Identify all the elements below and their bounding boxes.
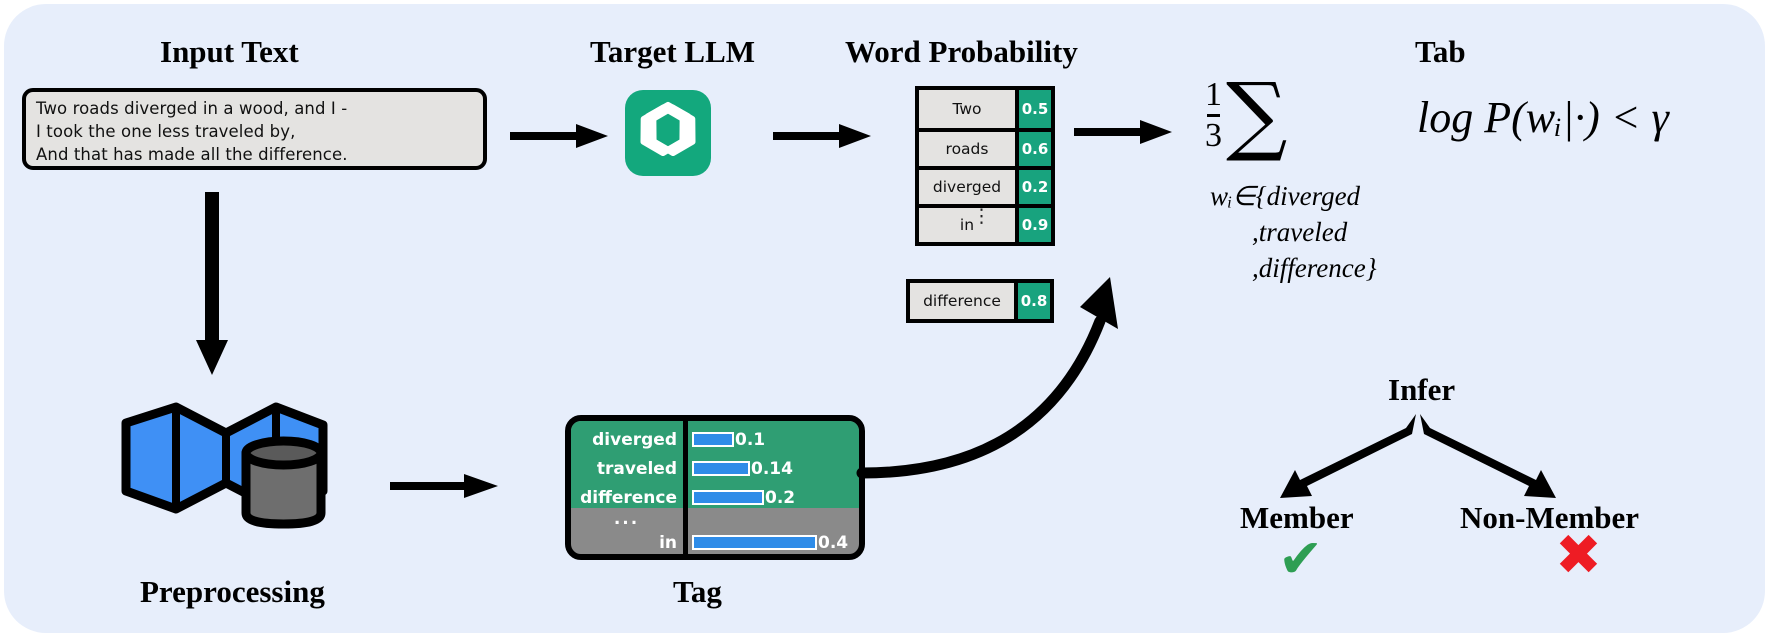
wp-prob-cell: 0.6 [1015,132,1051,166]
arrow-input-to-preprocessing [192,192,232,377]
target-llm-heading: Target LLM [590,34,755,70]
tag-row-bar [692,490,764,505]
tag-row-value: 0.4 [818,533,848,553]
word-probability-heading: Word Probability [845,34,1078,70]
arrow-llm-to-wordprob [773,122,873,150]
wp-word-cell: diverged [919,170,1015,204]
openai-logo-icon [625,90,711,176]
tag-row-label: difference [571,488,682,508]
tag-row-label: in [571,533,682,553]
wp-word-cell: Two [919,90,1015,128]
wp-prob-cell: 0.5 [1015,90,1051,128]
tag-row-value: 0.2 [765,488,795,508]
vertical-ellipsis-icon: ⋮ [972,213,992,220]
member-check-icon: ✔ [1278,532,1323,586]
arrow-down-right-icon [1420,414,1556,498]
non-member-label: Non-Member [1460,500,1639,536]
fraction-numerator: 1 [1205,78,1222,114]
tag-row-value: 0.14 [751,459,793,479]
wp-word-cell: roads [919,132,1015,166]
tag-row-bar-wrap: 0.1 [682,430,765,450]
input-text-box: Two roads diverged in a wood, and I - I … [22,88,487,170]
arrow-preprocessing-to-tag [390,472,500,500]
table-row: Two 0.5 [919,90,1051,128]
wp-prob-cell: 0.2 [1015,170,1051,204]
formula-subscript-set: wᵢ∈{diverged ,traveled ,difference} [1210,178,1377,286]
preprocessing-heading: Preprocessing [140,574,325,610]
tag-box: diverged 0.1 traveled 0.14 difference 0.… [565,415,865,560]
tag-row: difference 0.2 [571,483,859,512]
arrow-down-left-icon [1280,414,1416,498]
wp-word-cell: in [919,208,1015,242]
input-text-line-3: And that has made all the difference. [36,143,475,166]
tag-row-bar-wrap: 0.14 [682,459,793,479]
tag-row-bar [692,535,817,550]
arrow-input-to-llm [510,122,610,150]
tag-row-bar-wrap: 0.4 [682,533,848,553]
tag-row-bar [692,461,750,476]
formula-fraction: 1 3 [1205,78,1222,153]
fraction-denominator: 3 [1205,117,1222,153]
tab-heading: Tab [1415,34,1466,70]
summation-sigma-icon: ∑ [1226,82,1287,149]
tag-row-label: diverged [571,430,682,450]
tag-ellipsis-icon: ... [571,509,682,529]
non-member-cross-icon: ✖ [1555,528,1602,584]
tag-row-bar [692,432,734,447]
input-text-line-2: I took the one less traveled by, [36,120,475,143]
infer-branch-arrows [1238,410,1598,502]
arrow-wordprob-to-formula [1074,118,1174,146]
subscript-line-3: ,difference} [1210,250,1377,286]
tag-heading: Tag [673,574,722,610]
tag-row-label: traveled [571,459,682,479]
wp-prob-cell: 0.9 [1015,208,1051,242]
input-text-line-1: Two roads diverged in a wood, and I - [36,97,475,120]
input-text-heading: Input Text [160,34,299,70]
tab-score-formula: 1 3 ∑ [1205,78,1287,153]
database-cylinder-icon [246,441,321,524]
arrow-tag-to-formula [862,275,1152,490]
tag-axis-line [683,421,688,560]
subscript-line-2: ,traveled [1210,214,1377,250]
target-llm-tile [625,90,711,176]
tag-row-bar-wrap: 0.2 [682,488,795,508]
preprocessing-icon [118,395,328,525]
subscript-line-1: wᵢ∈{diverged [1210,178,1377,214]
tag-row: diverged 0.1 [571,425,859,454]
formula-right-side: log P(wᵢ|·) < γ [1417,92,1669,143]
tag-row: traveled 0.14 [571,454,859,483]
diagram-canvas: Input Text Target LLM Word Probability T… [0,0,1769,637]
tag-row-value: 0.1 [735,430,765,450]
table-row: diverged 0.2 [919,166,1051,204]
infer-heading: Infer [1388,372,1455,408]
tag-row: in 0.4 [571,528,859,557]
table-row: roads 0.6 [919,128,1051,166]
